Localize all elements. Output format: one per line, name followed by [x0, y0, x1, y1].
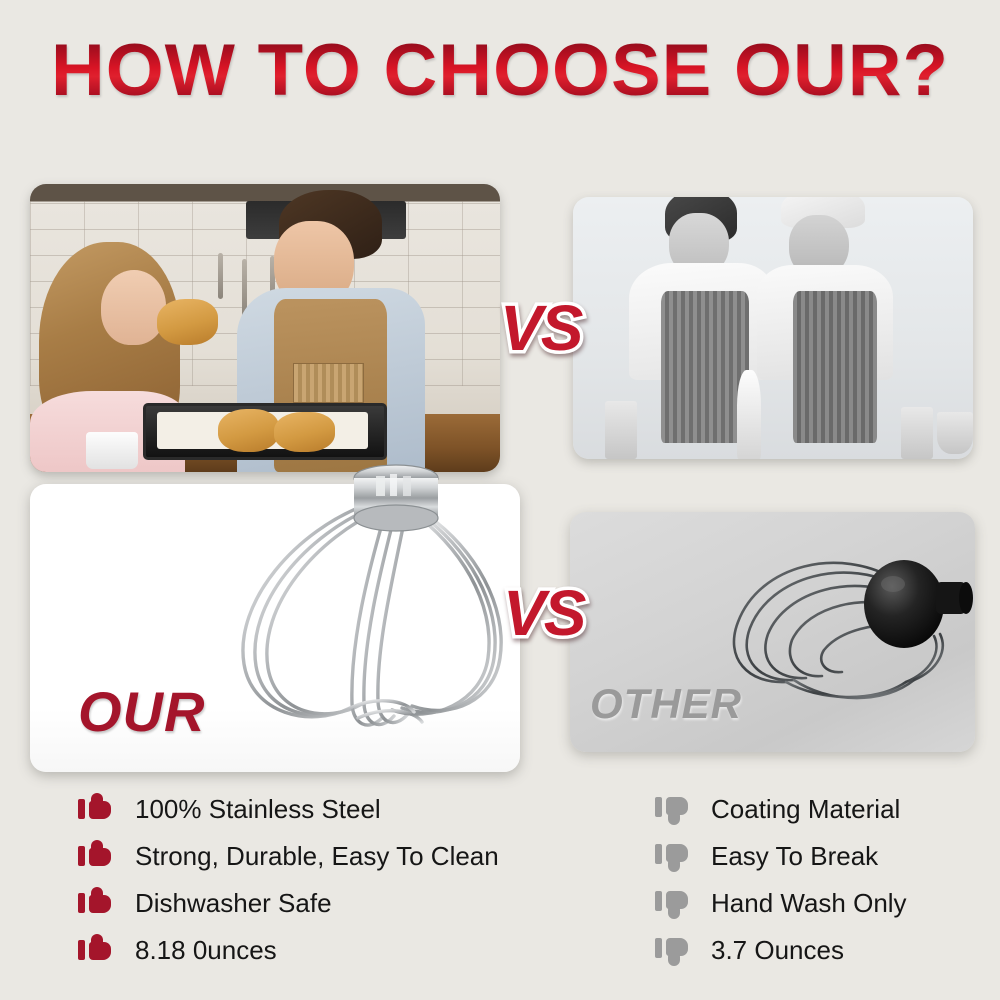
list-item: Dishwasher Safe	[78, 880, 548, 927]
infographic-stage: HOW TO CHOOSE OUR?	[0, 0, 1000, 1000]
feature-label: Easy To Break	[711, 841, 878, 872]
feature-label: Hand Wash Only	[711, 888, 907, 919]
thumbs-up-icon	[78, 887, 118, 921]
thumbs-down-icon	[655, 934, 695, 968]
feature-label: 3.7 Ounces	[711, 935, 844, 966]
apron-pocket	[293, 363, 364, 403]
croissant-tray-1	[218, 409, 279, 452]
page-title: HOW TO CHOOSE OUR?	[0, 34, 1000, 107]
vs-badge-bottom: VS	[503, 581, 584, 645]
milk-bottle	[737, 370, 761, 459]
thumbs-down-icon	[655, 887, 695, 921]
list-item: 100% Stainless Steel	[78, 786, 548, 833]
list-item: 8.18 0unces	[78, 927, 548, 974]
list-item: Coating Material	[655, 786, 985, 833]
gray-man-apron	[661, 291, 749, 443]
thumbs-up-icon	[78, 840, 118, 874]
photo-scene-left	[30, 184, 500, 472]
list-item: Easy To Break	[655, 833, 985, 880]
happy-couple-baking-photo	[30, 184, 500, 472]
feature-label: Strong, Durable, Easy To Clean	[135, 841, 499, 872]
croissant-held	[157, 299, 218, 345]
thumbs-down-icon	[655, 793, 695, 827]
coffee-cup	[86, 432, 138, 469]
our-label: OUR	[78, 679, 205, 744]
feature-label: Coating Material	[711, 794, 900, 825]
gray-woman-apron	[793, 291, 877, 443]
hanging-utensil-1	[218, 253, 223, 299]
woman-face	[101, 270, 167, 345]
feature-label: 100% Stainless Steel	[135, 794, 381, 825]
mixing-bowl	[937, 412, 973, 454]
other-product-card: OTHER	[570, 512, 975, 752]
black-plastic-collar	[864, 560, 973, 648]
glass-jar-right	[901, 407, 933, 459]
thumbs-up-icon	[78, 934, 118, 968]
croissant-tray-2	[274, 412, 335, 452]
feature-comparison-lists: 100% Stainless Steel Strong, Durable, Ea…	[0, 786, 1000, 986]
vs-badge-top: VS	[500, 296, 581, 360]
thumbs-up-icon	[78, 793, 118, 827]
list-item: 3.7 Ounces	[655, 927, 985, 974]
our-feature-list: 100% Stainless Steel Strong, Durable, Ea…	[78, 786, 548, 974]
our-wire-whip-photo	[200, 452, 530, 762]
list-item: Hand Wash Only	[655, 880, 985, 927]
feature-label: Dishwasher Safe	[135, 888, 332, 919]
thumbs-down-icon	[655, 840, 695, 874]
steel-collar	[354, 465, 438, 531]
frustrated-couple-photo	[573, 197, 973, 459]
photo-scene-right	[573, 197, 973, 459]
list-item: Strong, Durable, Easy To Clean	[78, 833, 548, 880]
other-label: OTHER	[590, 680, 742, 728]
feature-label: 8.18 0unces	[135, 935, 277, 966]
glass-jar-left	[605, 401, 637, 459]
other-feature-list: Coating Material Easy To Break Hand Wash…	[655, 786, 985, 974]
